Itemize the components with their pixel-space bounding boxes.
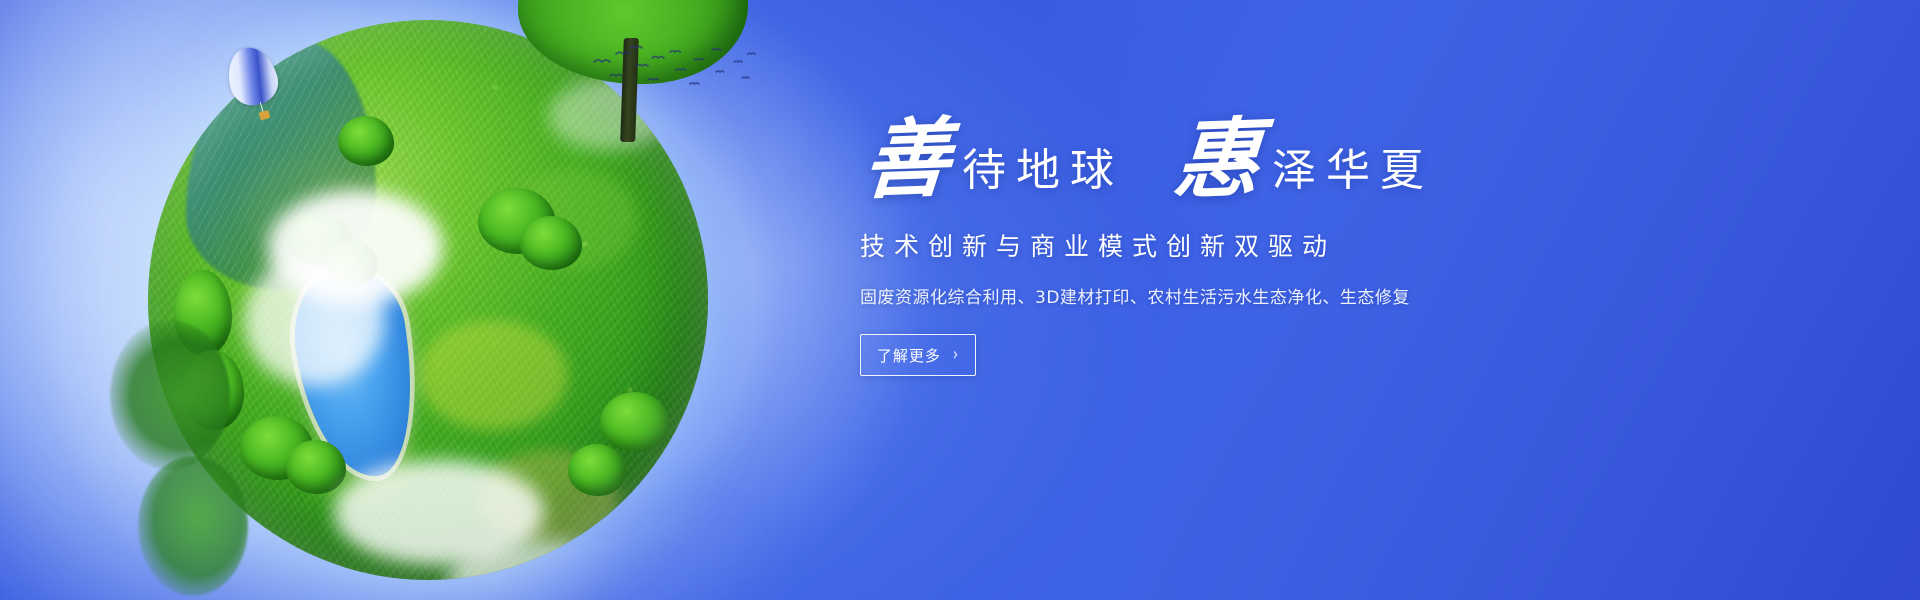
hero-subtitle: 技术创新与商业模式创新双驱动 [860,227,1620,263]
hero-description: 固废资源化综合利用、3D建材打印、农村生活污水生态净化、生态修复 [860,283,1620,308]
side-tree-silhouette [138,456,248,596]
side-tree-silhouette [110,320,230,470]
large-tree-icon [518,0,748,201]
learn-more-button[interactable]: 了解更多 › [860,334,976,376]
headline-calligraphic-1: 善 [857,118,957,200]
globe-tree-canopy [286,440,346,494]
globe-tree-canopy [520,216,582,270]
headline-regular-2: 泽华夏 [1272,149,1434,199]
globe-tree-canopy [338,116,394,166]
globe-tree-canopy [568,444,626,496]
hero-banner: 善 待地球 惠 泽华夏 技术创新与商业模式创新双驱动 固废资源化综合利用、3D建… [0,0,1920,600]
globe-surface-cloud [244,256,384,386]
tiny-planet-globe-image [148,20,708,580]
bird-flock-icon [590,40,760,100]
balloon-basket [259,110,271,120]
headline-regular-1: 待地球 [962,149,1124,199]
chevron-right-icon: › [953,345,959,365]
page-title: 善 待地球 惠 泽华夏 [860,120,1620,199]
globe-tree-canopy [600,392,670,452]
hero-content: 善 待地球 惠 泽华夏 技术创新与商业模式创新双驱动 固废资源化综合利用、3D建… [860,120,1620,376]
learn-more-label: 了解更多 [877,345,941,366]
headline-calligraphic-2: 惠 [1167,118,1267,200]
